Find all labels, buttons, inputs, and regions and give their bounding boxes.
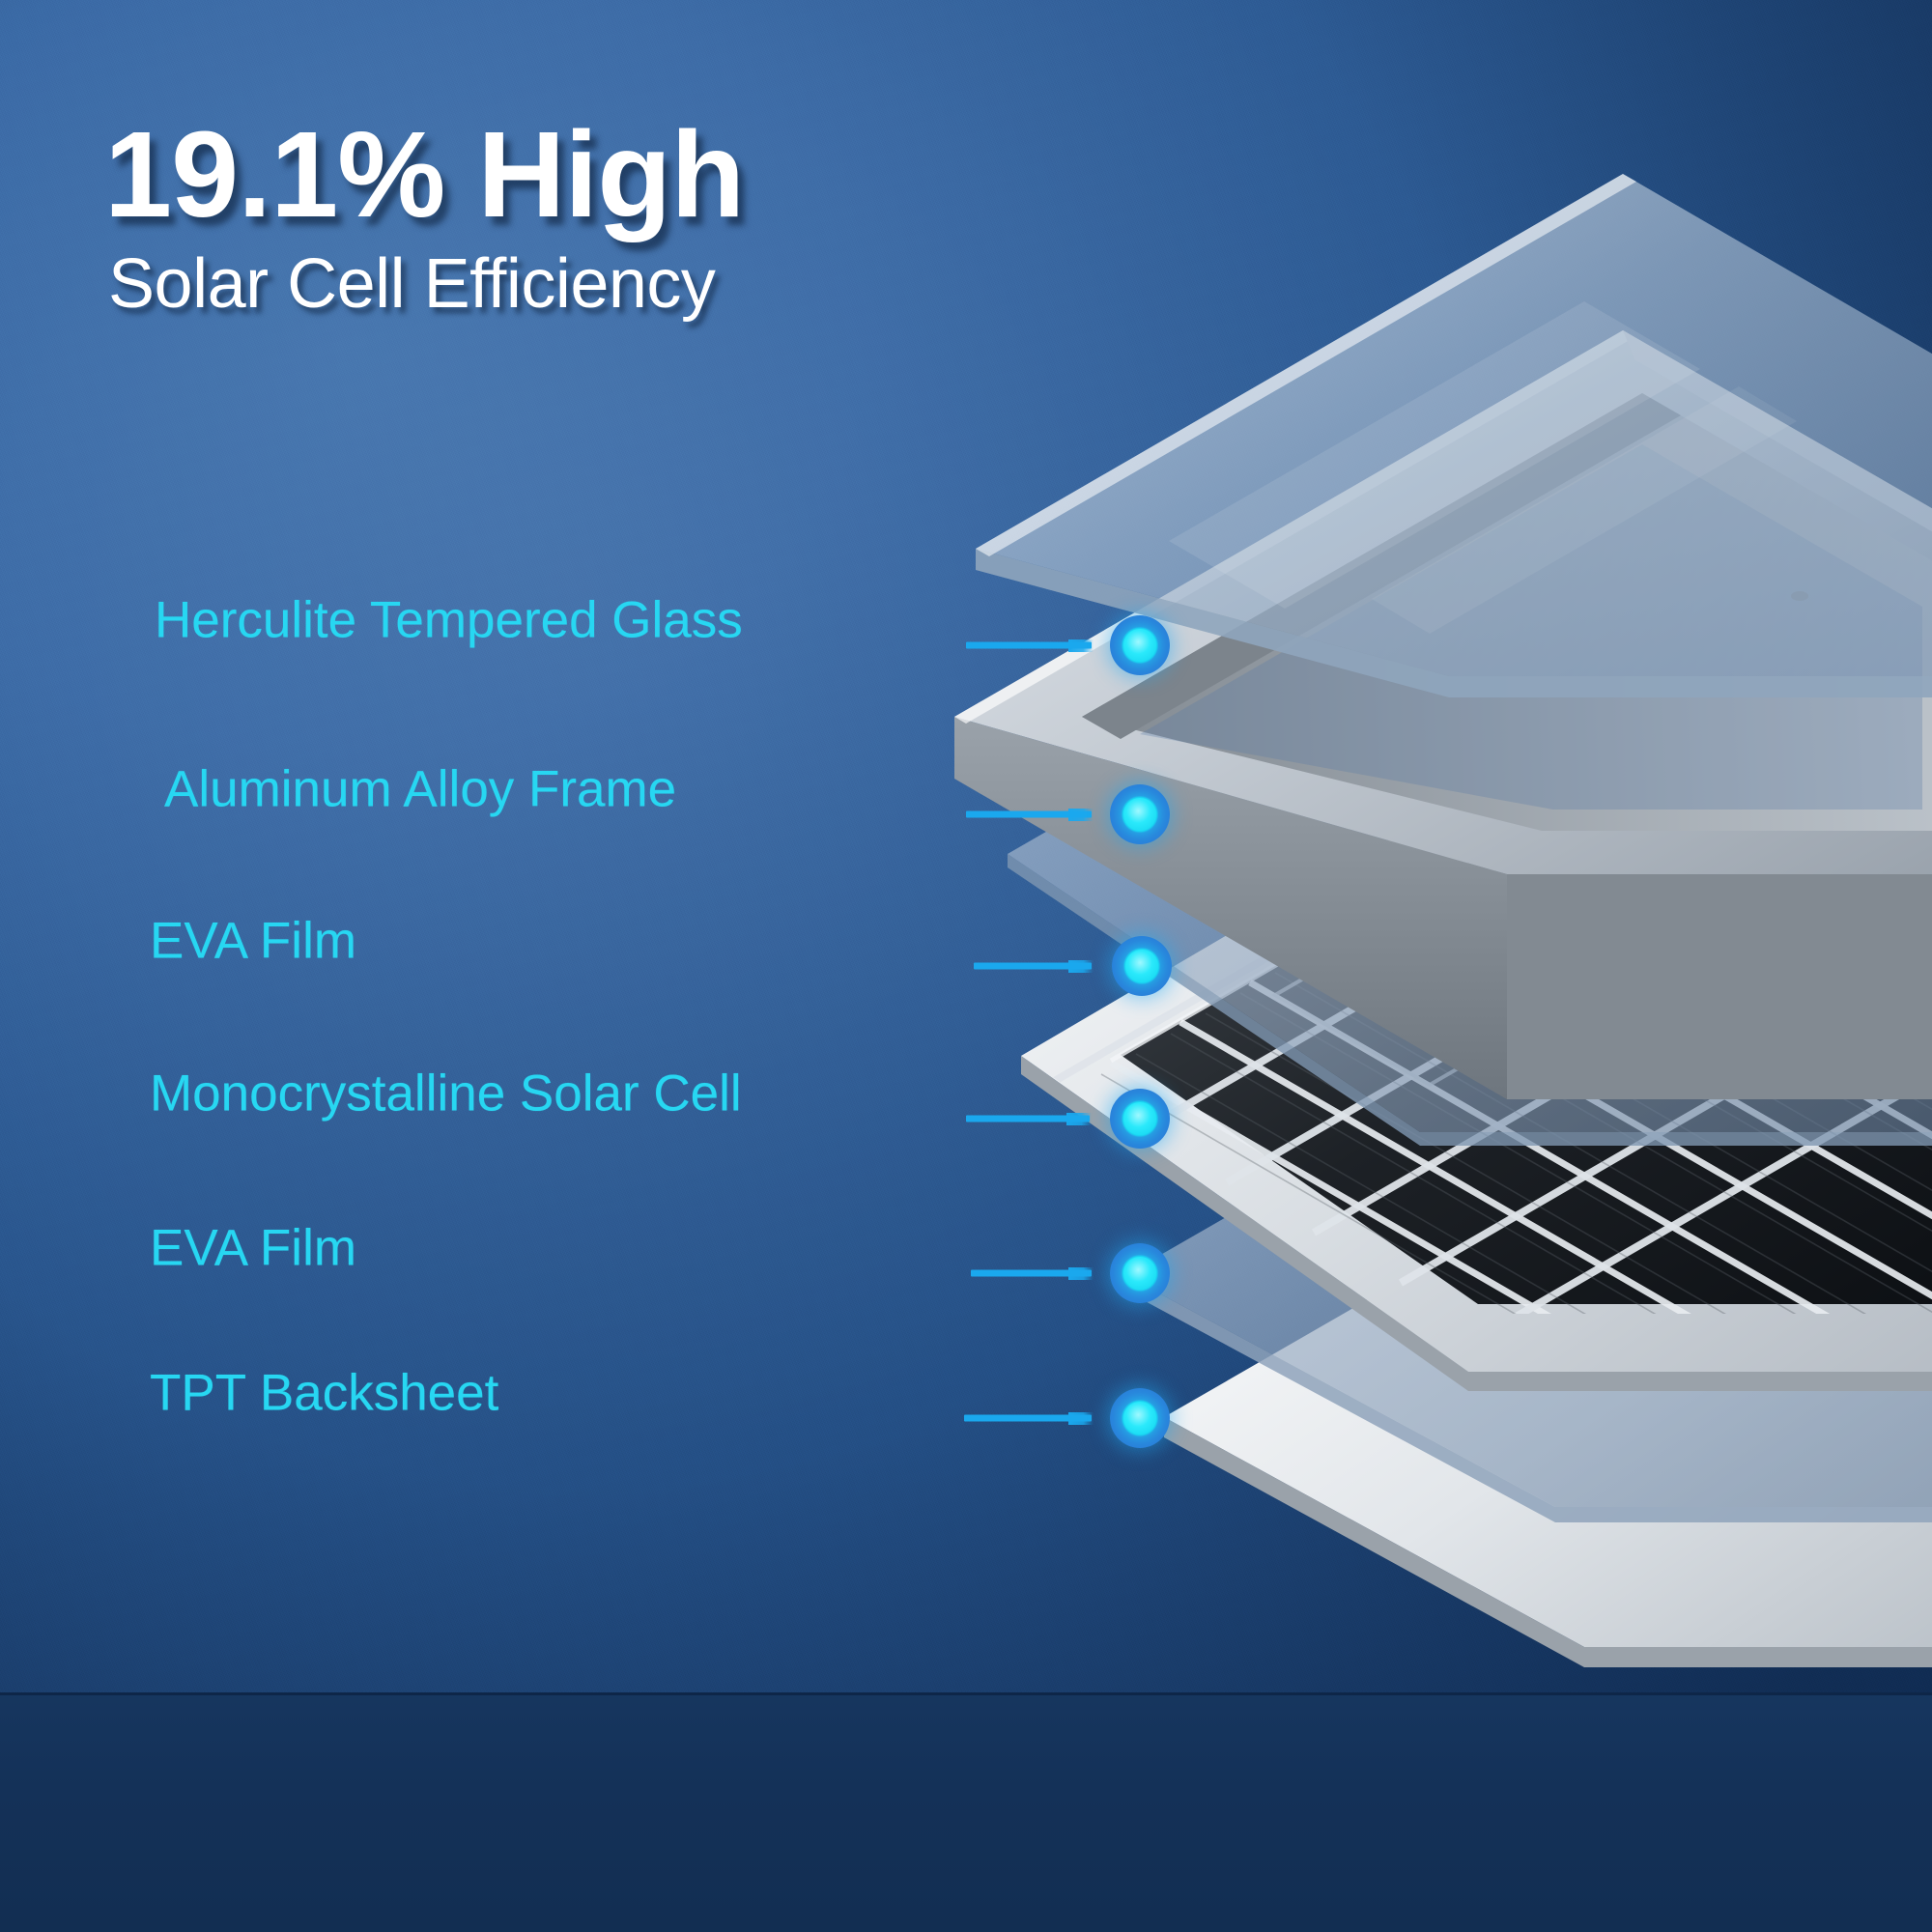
callout-label: TPT Backsheet [150,1367,498,1418]
layer-marker-dot-2[interactable] [1110,784,1170,844]
layer-marker-dot-6[interactable] [1110,1388,1170,1448]
callout-label: Herculite Tempered Glass [155,594,743,645]
layer-marker-dot-1[interactable] [1110,615,1170,675]
layer-marker-dot-5[interactable] [1110,1243,1170,1303]
page-subheadline: Solar Cell Efficiency [108,249,715,319]
callout-label: EVA Film [150,915,356,966]
leader-line-3 [974,963,1092,970]
layer-marker-dot-3[interactable] [1112,936,1172,996]
layer-marker-dot-4[interactable] [1110,1089,1170,1149]
callout-label: Aluminum Alloy Frame [164,763,676,814]
promo-image-canvas: 19.1% High Solar Cell Efficiency Herculi… [0,0,1932,1932]
bottom-band [0,1692,1932,1932]
leader-line-1 [966,642,1092,649]
leader-line-6 [964,1415,1092,1422]
leader-line-4 [966,1116,1090,1122]
leader-line-5 [971,1270,1092,1277]
callout-label: Monocrystalline Solar Cell [150,1067,742,1119]
callout-label: EVA Film [150,1222,356,1273]
page-headline: 19.1% High [104,114,744,236]
leader-line-2 [966,811,1092,818]
